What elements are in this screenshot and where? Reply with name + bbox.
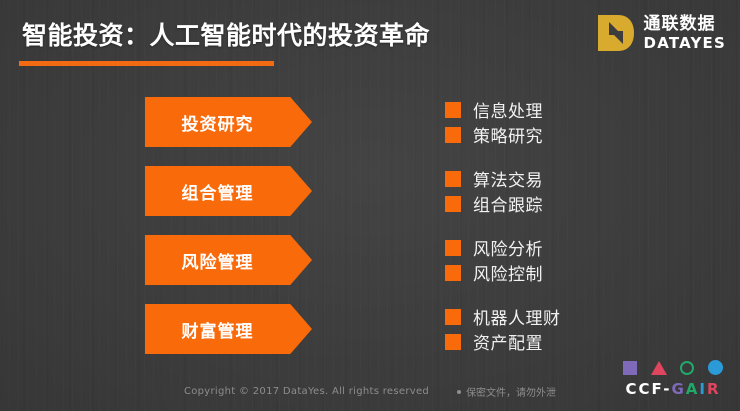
capability-group: 风险分析 风险控制 [445,235,561,285]
bullet-square-icon [445,196,461,212]
list-item: 风险控制 [445,260,561,285]
dot-icon [457,390,461,394]
brand-name-en: DATAYES [644,36,726,51]
list-item: 策略研究 [445,122,561,147]
capability-label: 组合跟踪 [473,191,543,216]
brand-logo: 通联数据 DATAYES [596,13,726,53]
list-item: 信息处理 [445,97,561,122]
capability-group: 机器人理财 资产配置 [445,304,561,354]
capability-label: 信息处理 [473,97,543,122]
ccf-gair-letter-i: I [699,380,707,398]
circle-icon [708,360,723,375]
pillar-arrow-portfolio-management[interactable]: 组合管理 [145,166,312,216]
capability-label: 资产配置 [473,329,543,354]
ccf-gair-letter-g: G [671,380,685,398]
capability-label: 机器人理财 [473,304,561,329]
ccf-gair-wordmark: CCF-GAIR [620,382,726,397]
triangle-icon [651,361,667,375]
confidential-notice: 保密文件，请勿外泄 [457,384,556,399]
ccf-gair-letter-a: A [686,380,700,398]
list-item: 算法交易 [445,166,561,191]
confidential-label: 保密文件，请勿外泄 [466,384,556,399]
datayes-d-mark-icon [596,13,636,53]
capability-list: 信息处理 策略研究 算法交易 组合跟踪 风险分析 [445,97,561,354]
bullet-square-icon [445,102,461,118]
capability-label: 风险分析 [473,235,543,260]
list-item: 资产配置 [445,329,561,354]
capability-group: 算法交易 组合跟踪 [445,166,561,216]
slide-canvas: 智能投资：人工智能时代的投资革命 通联数据 DATAYES 投资研究 组合管理 … [0,0,740,411]
title-underline-rule [19,61,274,66]
list-item: 组合跟踪 [445,191,561,216]
pillar-arrow-list: 投资研究 组合管理 风险管理 财富管理 [145,97,312,354]
pillar-arrow-investment-research[interactable]: 投资研究 [145,97,312,147]
pillar-label: 组合管理 [182,179,254,204]
brand-name-cn: 通联数据 [644,16,726,33]
bullet-square-icon [445,240,461,256]
bullet-square-icon [445,171,461,187]
ccf-gair-shape-row [620,359,726,376]
brand-wordmark: 通联数据 DATAYES [644,16,726,51]
ccf-gair-prefix: CCF- [625,380,671,398]
copyright-text: Copyright © 2017 DataYes. All rights res… [184,386,429,397]
ring-icon [680,361,694,375]
bullet-square-icon [445,309,461,325]
capability-group: 信息处理 策略研究 [445,97,561,147]
square-icon [623,361,637,375]
capability-label: 算法交易 [473,166,543,191]
pillar-arrow-wealth-management[interactable]: 财富管理 [145,304,312,354]
bullet-square-icon [445,265,461,281]
pillar-label: 财富管理 [182,317,254,342]
bullet-square-icon [445,334,461,350]
ccf-gair-logo: CCF-GAIR [620,359,726,397]
pillar-label: 风险管理 [182,248,254,273]
pillar-arrow-risk-management[interactable]: 风险管理 [145,235,312,285]
list-item: 机器人理财 [445,304,561,329]
capability-label: 策略研究 [473,122,543,147]
capability-label: 风险控制 [473,260,543,285]
page-title: 智能投资：人工智能时代的投资革命 [22,16,430,52]
bullet-square-icon [445,127,461,143]
pillar-label: 投资研究 [182,110,254,135]
list-item: 风险分析 [445,235,561,260]
ccf-gair-letter-r: R [707,380,721,398]
